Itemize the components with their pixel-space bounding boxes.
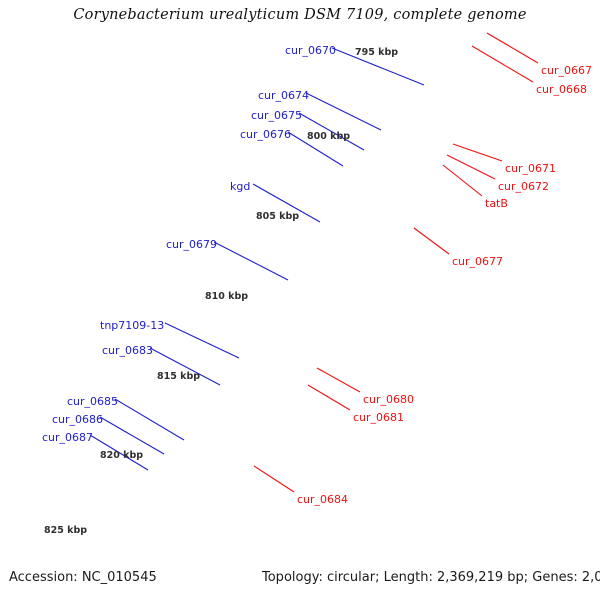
- axis-tick-label: 810 kbp: [205, 292, 248, 302]
- gene-label-cur-0680[interactable]: cur_0680: [363, 394, 414, 405]
- leader-line: [254, 466, 294, 492]
- axis-tick-label: 815 kbp: [157, 372, 200, 382]
- gene-label-cur-0672[interactable]: cur_0672: [498, 181, 549, 192]
- accession-text: Accession: NC_010545: [9, 570, 157, 585]
- leader-line: [453, 144, 502, 161]
- gene-label-cur-0676[interactable]: cur_0676: [240, 129, 291, 140]
- gene-label-cur-0668[interactable]: cur_0668: [536, 84, 587, 95]
- leader-line: [414, 228, 449, 254]
- gene-label-cur-0675[interactable]: cur_0675: [251, 110, 302, 121]
- gene-label-cur-0674[interactable]: cur_0674: [258, 90, 309, 101]
- genome-summary-text: Topology: circular; Length: 2,369,219 bp…: [262, 570, 600, 585]
- leader-line: [214, 242, 288, 280]
- gene-label-cur-0681[interactable]: cur_0681: [353, 412, 404, 423]
- leader-line: [447, 155, 495, 179]
- gene-label-cur-0683[interactable]: cur_0683: [102, 345, 153, 356]
- gene-label-cur-0685[interactable]: cur_0685: [67, 396, 118, 407]
- axis-tick-label: 800 kbp: [307, 132, 350, 142]
- axis-tick-label: 825 kbp: [44, 526, 87, 536]
- leader-line: [306, 93, 381, 130]
- page-title: Corynebacterium urealyticum DSM 7109, co…: [0, 7, 600, 23]
- axis-tick-label: 805 kbp: [256, 212, 299, 222]
- leader-line: [308, 385, 350, 410]
- leader-line: [317, 368, 360, 392]
- genome-map-window: Corynebacterium urealyticum DSM 7109, co…: [0, 0, 600, 600]
- gene-label-cur-0667[interactable]: cur_0667: [541, 65, 592, 76]
- leader-line: [472, 46, 533, 82]
- axis-tick-label: 795 kbp: [355, 48, 398, 58]
- gene-label-cur-0677[interactable]: cur_0677: [452, 256, 503, 267]
- leader-line: [165, 323, 239, 358]
- gene-label-tatb[interactable]: tatB: [485, 198, 508, 209]
- leader-line: [487, 33, 538, 63]
- leader-line: [115, 399, 184, 440]
- gene-label-cur-0671[interactable]: cur_0671: [505, 163, 556, 174]
- gene-label-cur-0687[interactable]: cur_0687: [42, 432, 93, 443]
- gene-label-cur-0686[interactable]: cur_0686: [52, 414, 103, 425]
- axis-tick-label: 820 kbp: [100, 451, 143, 461]
- gene-label-cur-0679[interactable]: cur_0679: [166, 239, 217, 250]
- gene-label-cur-0684[interactable]: cur_0684: [297, 494, 348, 505]
- gene-label-tnp7109-13[interactable]: tnp7109-13: [100, 320, 164, 331]
- gene-label-kgd[interactable]: kgd: [230, 181, 250, 192]
- gene-label-cur-0670[interactable]: cur_0670: [285, 45, 336, 56]
